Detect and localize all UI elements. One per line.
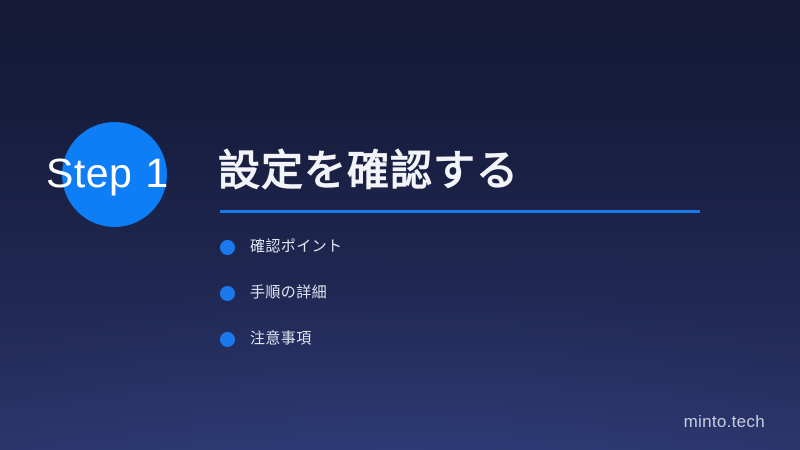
bullet-dot-icon [220,332,235,347]
step-label: Step1 [46,150,169,196]
list-item-label: 確認ポイント [250,236,342,258]
page-title: 設定を確認する [218,146,519,196]
bullet-dot-icon [220,240,235,255]
list-item: 確認ポイント [220,236,342,258]
list-item: 注意事項 [220,328,342,350]
footer-watermark: minto.tech [684,412,765,432]
list-item: 手順の詳細 [220,282,342,304]
bullet-dot-icon [220,286,235,301]
bullet-list: 確認ポイント 手順の詳細 注意事項 [220,236,342,350]
list-item-label: 注意事項 [250,328,312,350]
slide-canvas: Step1 設定を確認する 確認ポイント 手順の詳細 注意事項 minto.te… [0,0,800,450]
list-item-label: 手順の詳細 [250,282,327,304]
title-divider [220,210,700,213]
step-number: 1 [145,150,168,196]
step-word: Step [46,150,132,196]
